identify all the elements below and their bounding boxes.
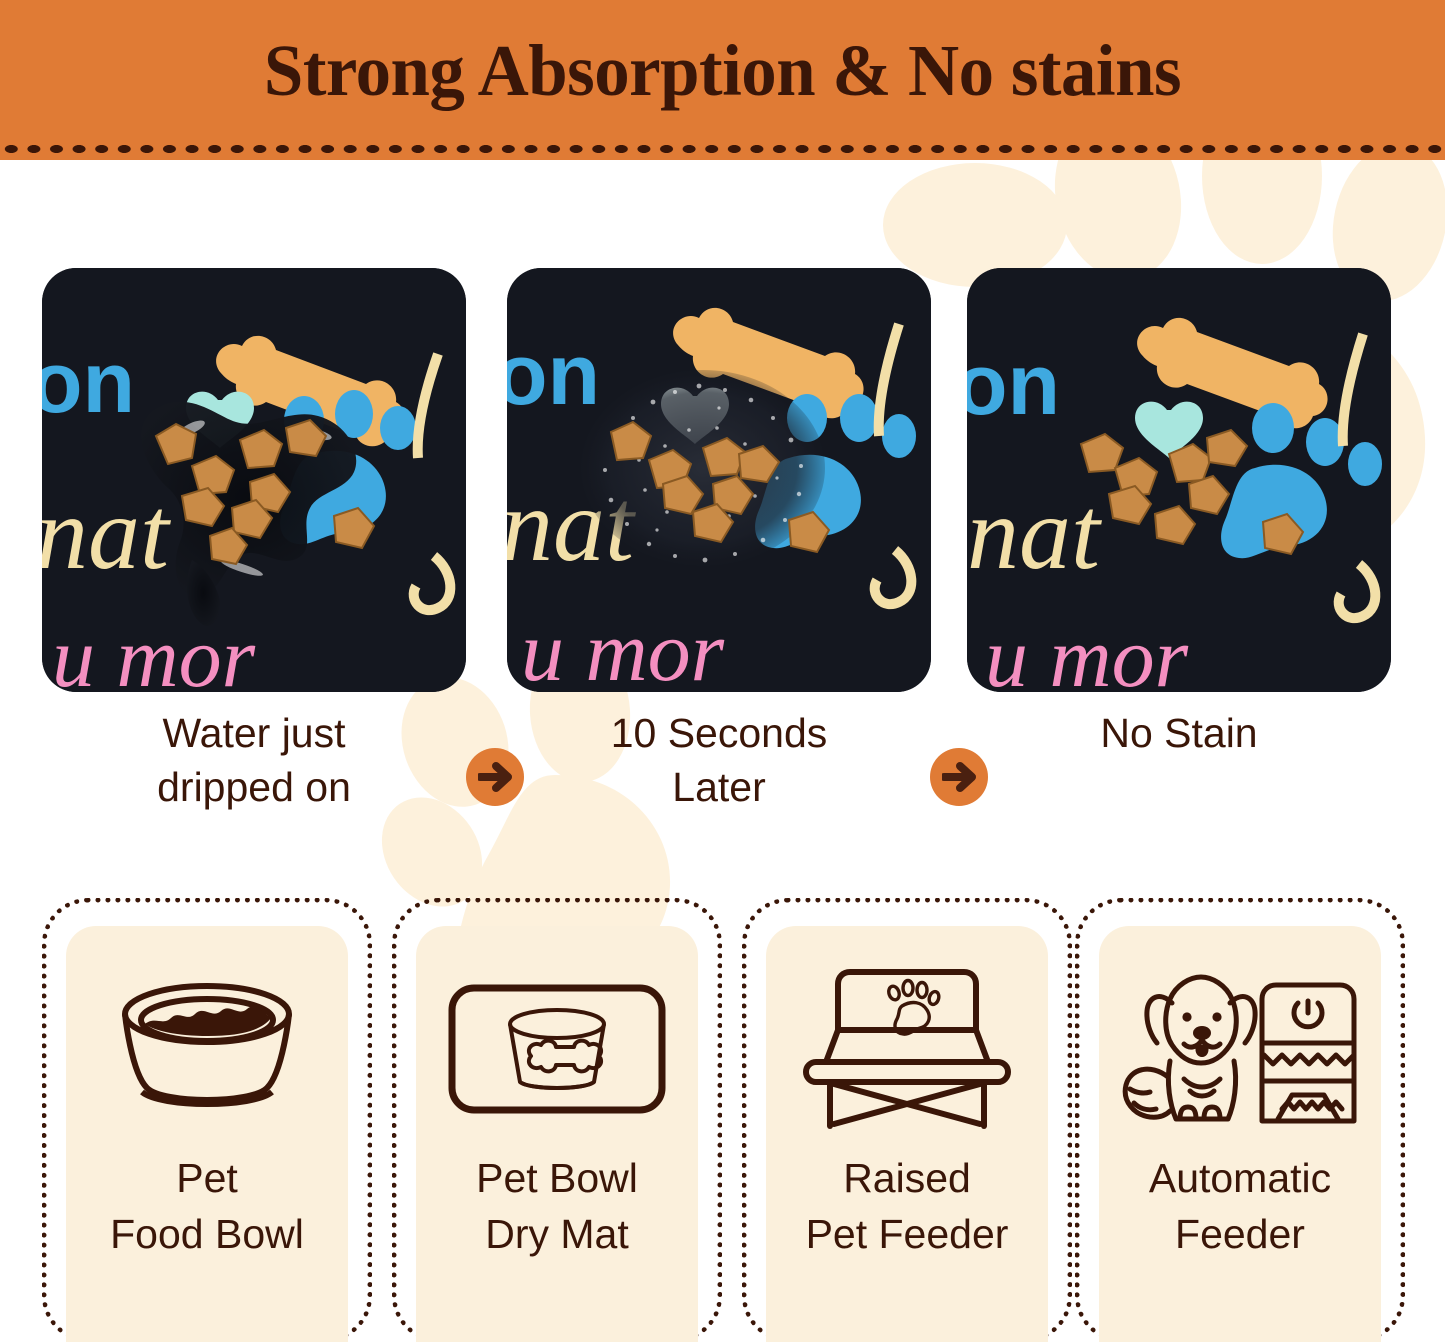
- svg-text:on: on: [507, 327, 600, 423]
- svg-text:on: on: [967, 337, 1060, 433]
- dog-glyph: [1125, 977, 1255, 1119]
- automatic-feeder-icon: [1075, 956, 1405, 1142]
- paw-print-glyph: [887, 981, 940, 1035]
- raised-pet-feeder-icon: [742, 956, 1072, 1142]
- mat-print-word-pink: u mor: [521, 603, 725, 692]
- svg-text:u mor: u mor: [521, 603, 725, 692]
- photo-no-stain: on nat u mor: [967, 268, 1391, 692]
- svg-text:on: on: [42, 335, 135, 431]
- usage-card-automatic-feeder: Automatic Feeder: [1075, 898, 1405, 1342]
- usage-card-label: Pet Food Bowl: [42, 1150, 372, 1262]
- mat-print-word-pink: u mor: [985, 609, 1189, 692]
- bone-glyph: [529, 1041, 601, 1072]
- mat-print-word-blue: on: [967, 337, 1060, 433]
- photo-water-dripped: on nat u mor: [42, 268, 466, 692]
- mat-print-word-blue: on: [42, 335, 135, 431]
- usage-card-label: Automatic Feeder: [1075, 1150, 1405, 1262]
- feeder-body-glyph: [1262, 985, 1354, 1121]
- header-banner: Strong Absorption & No stains: [0, 0, 1445, 160]
- usage-card-pet-bowl-dry-mat: Pet Bowl Dry Mat: [392, 898, 722, 1342]
- caption-step-2: 10 Seconds Later: [507, 706, 931, 814]
- svg-text:nat: nat: [42, 476, 171, 591]
- usage-cards: Pet Food Bowl Pet Bowl Dry Mat: [0, 898, 1445, 1342]
- mat-print-word-pink: u mor: [52, 609, 256, 692]
- bowl-food-fill: [145, 1007, 271, 1036]
- demo-captions: Water just dripped on 10 Seconds Later N…: [0, 706, 1445, 826]
- caption-step-3: No Stain: [967, 706, 1391, 760]
- usage-card-label: Pet Bowl Dry Mat: [392, 1150, 722, 1262]
- mat-print-word-cream: nat: [967, 476, 1102, 591]
- svg-text:u mor: u mor: [52, 609, 256, 692]
- mat-print-word-cream: nat: [42, 476, 171, 591]
- absorption-demo-strip: on nat u mor: [0, 268, 1445, 692]
- usage-card-label: Raised Pet Feeder: [742, 1150, 1072, 1262]
- pet-food-bowl-icon: [42, 956, 372, 1142]
- pet-bowl-dry-mat-icon: [392, 956, 722, 1142]
- mat-print-word-blue: on: [507, 327, 600, 423]
- svg-text:nat: nat: [967, 476, 1102, 591]
- header-dotted-divider: [0, 142, 1445, 156]
- usage-card-raised-pet-feeder: Raised Pet Feeder: [742, 898, 1072, 1342]
- svg-text:u mor: u mor: [985, 609, 1189, 692]
- photo-ten-seconds-later: on nat u mor: [507, 268, 931, 692]
- caption-step-1: Water just dripped on: [42, 706, 466, 814]
- usage-card-pet-food-bowl: Pet Food Bowl: [42, 898, 372, 1342]
- page-title: Strong Absorption & No stains: [22, 0, 1424, 142]
